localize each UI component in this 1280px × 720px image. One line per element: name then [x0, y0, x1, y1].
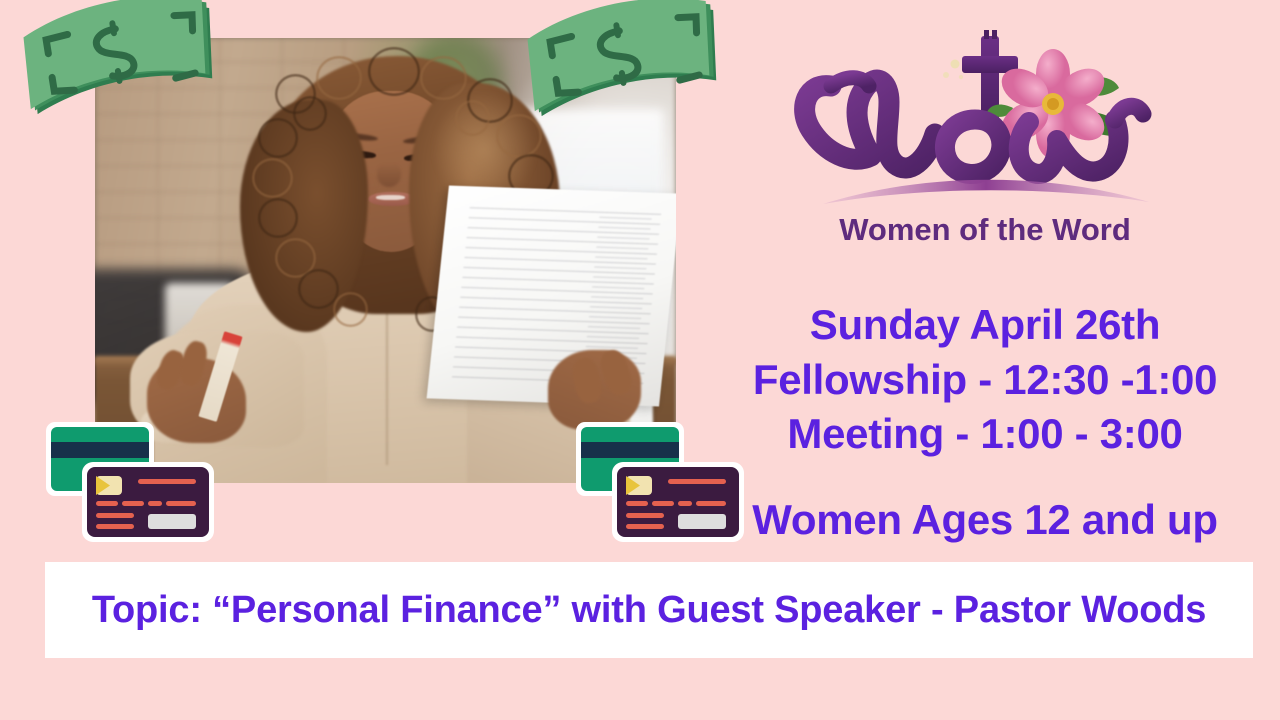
- credit-cards-sticker: [42, 418, 218, 546]
- flyer-canvas: Women of the Word Sunday April 26th Fell…: [0, 0, 1280, 720]
- info-column: Women of the Word Sunday April 26th Fell…: [700, 24, 1270, 544]
- topic-banner: Topic: “Personal Finance” with Guest Spe…: [45, 562, 1253, 658]
- ages-line: Women Ages 12 and up: [752, 496, 1217, 544]
- topic-banner-text: Topic: “Personal Finance” with Guest Spe…: [92, 589, 1206, 632]
- swoosh-divider: [823, 180, 1149, 204]
- meeting-line: Meeting - 1:00 - 3:00: [753, 407, 1217, 462]
- date-line: Sunday April 26th: [753, 298, 1217, 353]
- logo-tagline: Women of the Word: [839, 212, 1131, 247]
- event-details: Sunday April 26th Fellowship - 12:30 -1:…: [753, 298, 1217, 462]
- wow-logo: Women of the Word: [785, 24, 1185, 252]
- fellowship-line: Fellowship - 12:30 -1:00: [753, 353, 1217, 408]
